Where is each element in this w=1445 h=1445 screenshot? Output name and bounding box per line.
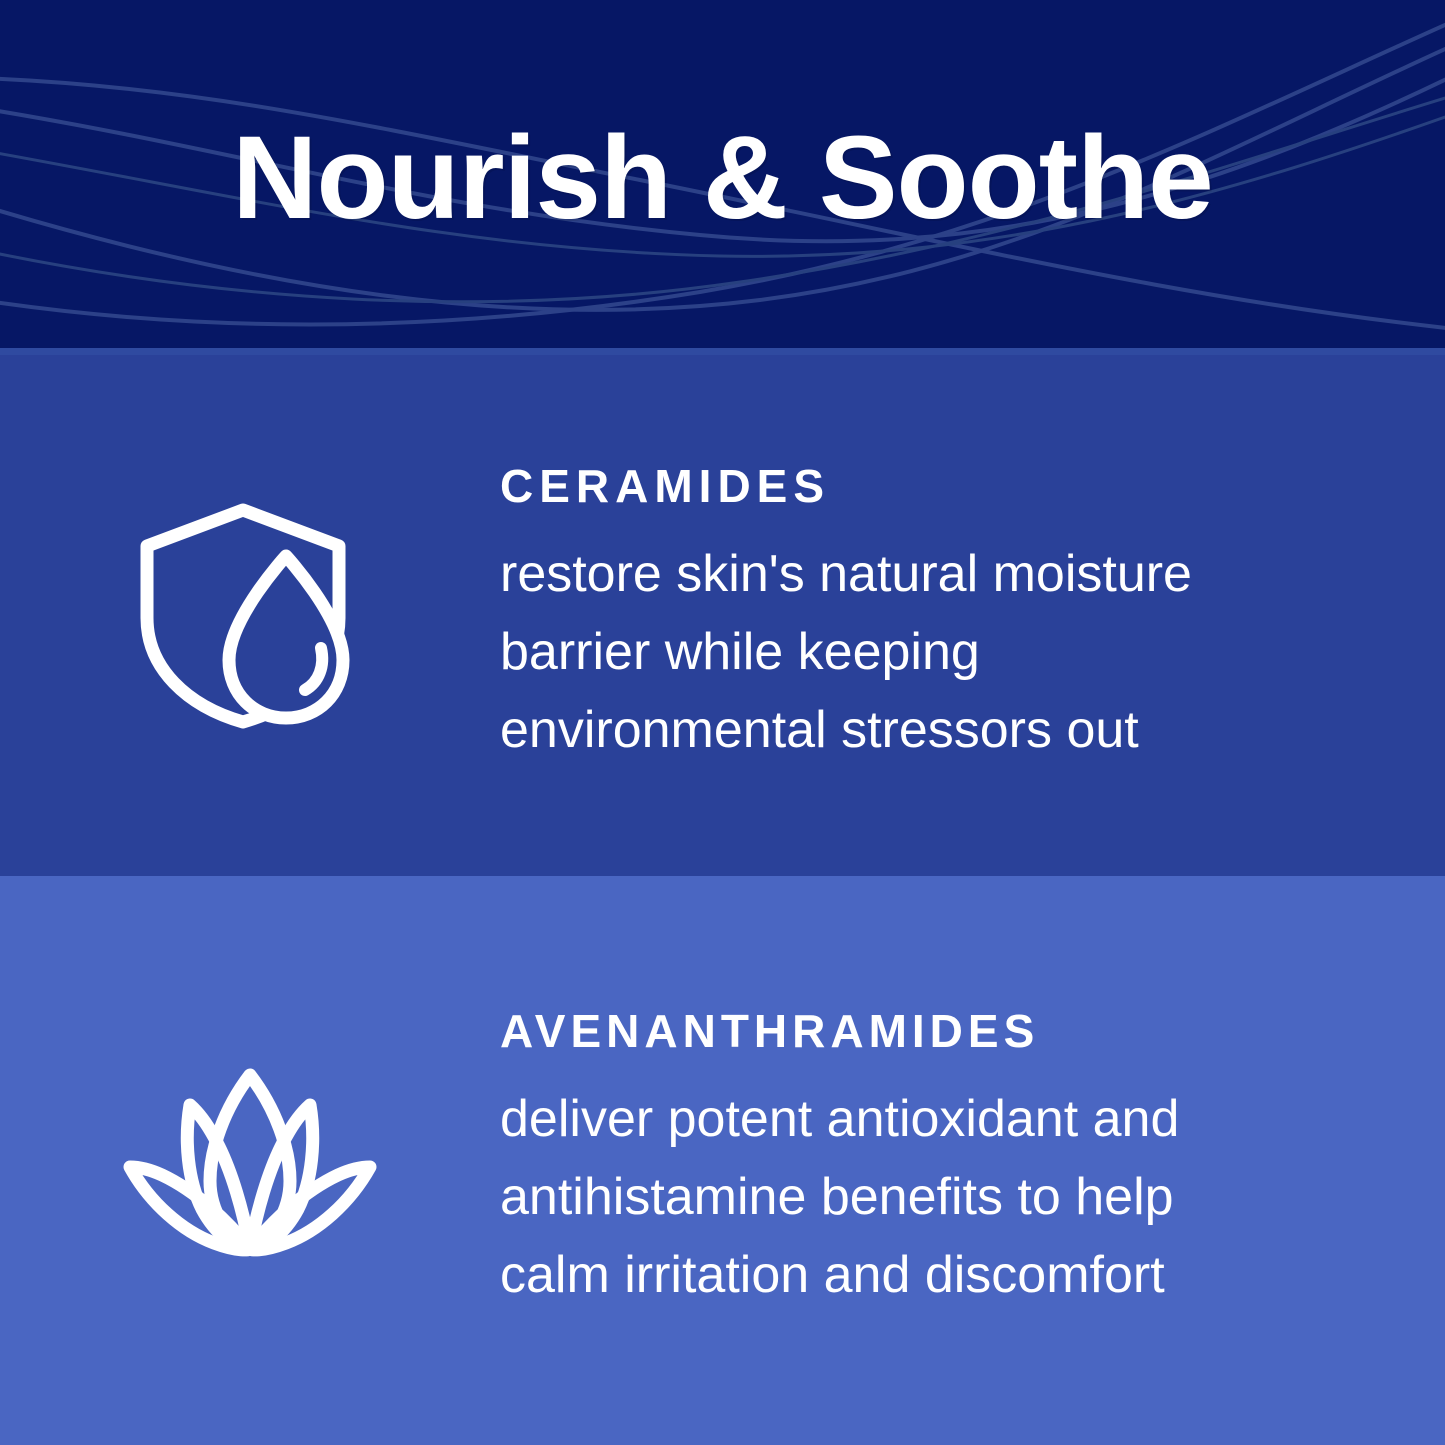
feature-panel-avenanthramides: AVENANTHRAMIDES deliver potent antioxida… [0, 876, 1445, 1445]
lotus-flower-icon-container [0, 1063, 500, 1259]
feature-text-avenanthramides: AVENANTHRAMIDES deliver potent antioxida… [500, 1008, 1445, 1314]
header-banner: Nourish & Soothe [0, 0, 1445, 355]
feature-body-ceramides: restore skin's natural moisture barrier … [500, 535, 1260, 769]
lotus-flower-icon [118, 1063, 382, 1259]
feature-text-ceramides: CERAMIDES restore skin's natural moistur… [500, 463, 1445, 769]
feature-panel-ceramides: CERAMIDES restore skin's natural moistur… [0, 355, 1445, 876]
feature-heading-avenanthramides: AVENANTHRAMIDES [500, 1008, 1325, 1054]
shield-droplet-icon-container [0, 500, 500, 732]
feature-body-avenanthramides: deliver potent antioxidant and antihista… [500, 1080, 1240, 1314]
infographic-poster: Nourish & Soothe CERAMIDES restore skin'… [0, 0, 1445, 1445]
shield-droplet-icon [125, 500, 375, 732]
page-title: Nourish & Soothe [0, 0, 1445, 355]
feature-heading-ceramides: CERAMIDES [500, 463, 1325, 509]
header-divider [0, 348, 1445, 355]
